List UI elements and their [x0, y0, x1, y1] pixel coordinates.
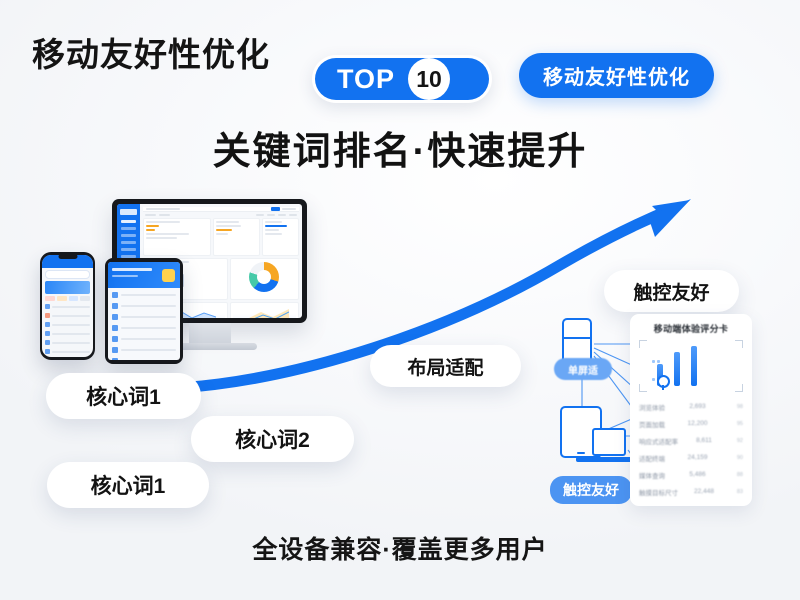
phone-list-item	[45, 330, 90, 337]
header-blue-pill-label: 移动友好性优化	[543, 61, 690, 90]
keyword-pill-3[interactable]: 核心词1	[47, 462, 209, 508]
single-screen-tag-label: 单屏适	[568, 362, 598, 377]
dashboard-breadcrumb	[143, 214, 299, 216]
phone-mockup	[40, 252, 95, 360]
score-card-chart	[639, 340, 743, 392]
row-score: 83	[730, 489, 743, 495]
row-value: 12,200	[688, 420, 708, 427]
score-card-rows: 浏览体验 2,693 98 页面加载 12,200 95 响应式适配率 8,61…	[639, 398, 743, 500]
donut-icon	[249, 262, 279, 292]
header-blue-pill: 移动友好性优化	[519, 53, 714, 98]
phone-banner	[45, 281, 90, 294]
tablet-hero-banner	[108, 262, 180, 288]
row-label: 适配终端	[639, 453, 665, 463]
row-label: 响应式适配率	[639, 436, 678, 446]
layout-adaptation-label: 布局适配	[407, 353, 483, 380]
table-row: 触摸目标尺寸 22,448 83	[639, 483, 743, 500]
tablet-list-item	[112, 313, 176, 321]
tablet-list-item	[112, 302, 176, 310]
tablet-list-item	[112, 335, 176, 343]
sidebar-item	[121, 248, 136, 251]
dashboard-card	[213, 218, 260, 256]
monitor-stand	[189, 323, 231, 343]
tablet-list-item	[112, 357, 176, 360]
row-value: 22,448	[694, 488, 714, 495]
dashboard-logo	[120, 209, 137, 215]
phone-list-item	[45, 312, 90, 319]
row-label: 媒体查询	[639, 470, 665, 480]
row-value: 8,611	[696, 437, 712, 444]
page-subtitle: 关键词排名·快速提升	[0, 120, 800, 175]
keyword-pill-2-label: 核心词2	[235, 424, 310, 454]
chart-marker-icon	[657, 375, 670, 388]
poster-canvas: 移动友好性优化 TOP 10 移动友好性优化 关键词排名·快速提升	[0, 0, 800, 600]
dashboard-card-row	[143, 218, 299, 256]
dashboard-area-chart-2	[230, 302, 299, 318]
sidebar-item	[121, 241, 136, 244]
row-value: 5,486	[689, 471, 705, 478]
touch-friendly-label: 触控友好	[633, 278, 709, 305]
phone-list-item	[45, 348, 90, 355]
footer-caption: 全设备兼容·覆盖更多用户	[0, 530, 800, 566]
top-ten-badge-inner: TOP 10	[315, 58, 489, 100]
top-ten-badge: TOP 10	[312, 55, 492, 103]
mini-laptop-base	[576, 457, 638, 462]
mini-laptop-icon	[592, 428, 626, 456]
row-label: 触摸目标尺寸	[639, 487, 678, 497]
top-number-circle: 10	[408, 58, 450, 100]
phone-chip-row	[45, 296, 90, 301]
phone-screen	[42, 255, 93, 357]
dashboard-card	[262, 218, 299, 256]
phone-search-bar	[45, 270, 90, 279]
phone-list-item	[45, 321, 90, 328]
sidebar-item	[121, 234, 136, 237]
sidebar-item	[121, 227, 136, 230]
keyword-pill-1[interactable]: 核心词1	[46, 373, 201, 419]
keyword-pill-3-label: 核心词1	[91, 470, 166, 500]
row-score: 98	[730, 404, 743, 410]
table-row: 响应式适配率 8,611 92	[639, 432, 743, 449]
hero-badge	[162, 269, 175, 282]
row-score: 90	[730, 455, 743, 461]
phone-list-item	[45, 339, 90, 346]
topbar-text	[146, 208, 180, 210]
table-row: 页面加载 12,200 95	[639, 415, 743, 432]
phone-notch	[58, 254, 77, 259]
touch-friendly-tag-label: 触控友好	[563, 480, 619, 500]
keyword-pill-1-label: 核心词1	[86, 381, 161, 411]
mobile-score-card: 移动端体验评分卡 浏览体验 2,693 98 页面加载 12,200	[630, 314, 752, 506]
page-title: 移动友好性优化	[32, 28, 270, 76]
top-number: 10	[416, 68, 442, 91]
keyword-pill-2[interactable]: 核心词2	[191, 416, 354, 462]
tablet-list-item	[112, 291, 176, 299]
device-diagram: 单屏适 触控友好 移动端体验评分卡 浏览体验 2,693	[548, 310, 758, 510]
row-score: 92	[730, 438, 743, 444]
tablet-screen	[108, 262, 180, 360]
row-value: 24,159	[688, 454, 708, 461]
dashboard-donut-chart	[230, 258, 299, 300]
table-row: 浏览体验 2,693 98	[639, 398, 743, 415]
row-label: 浏览体验	[639, 402, 665, 412]
sidebar-item	[121, 220, 136, 223]
table-row: 媒体查询 5,486 88	[639, 466, 743, 483]
row-score: 95	[730, 421, 743, 427]
touch-friendly-tag: 触控友好	[550, 476, 632, 504]
touch-friendly-pill[interactable]: 触控友好	[604, 270, 739, 312]
row-label: 页面加载	[639, 419, 665, 429]
topbar-text	[282, 208, 296, 210]
table-row: 适配终端 24,159 90	[639, 449, 743, 466]
dashboard-card	[143, 218, 211, 256]
sparkline	[233, 305, 296, 318]
tablet-list-item	[112, 324, 176, 332]
phone-list-item	[45, 303, 90, 310]
row-score: 88	[730, 472, 743, 478]
row-value: 2,693	[689, 403, 705, 410]
score-card-title: 移动端体验评分卡	[639, 322, 743, 335]
top-label: TOP	[337, 66, 395, 93]
tablet-list-item	[112, 346, 176, 354]
topbar-action	[271, 207, 280, 211]
dashboard-topbar	[143, 207, 299, 212]
tablet-mockup	[105, 258, 183, 364]
layout-adaptation-pill[interactable]: 布局适配	[370, 345, 521, 387]
single-screen-tag: 单屏适	[554, 358, 612, 380]
